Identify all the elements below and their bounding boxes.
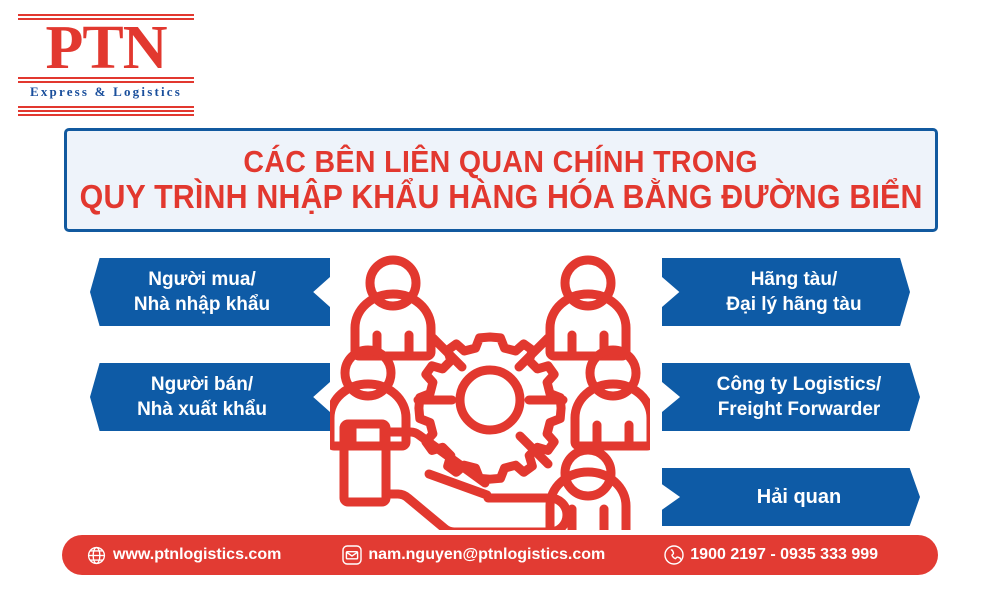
banner-buyer-label: Người mua/ Nhà nhập khẩu <box>134 267 270 317</box>
logo-tagline: Express & Logistics <box>18 84 194 100</box>
logo-rule-bottom-3 <box>18 114 194 116</box>
person-icon-middle-right <box>575 350 650 446</box>
banner-seller-label: Người bán/ Nhà xuất khẩu <box>137 372 267 422</box>
contact-phone-text: 1900 2197 - 0935 333 999 <box>690 546 878 564</box>
infographic-canvas: PTN Express & Logistics CÁC BÊN LIÊN QUA… <box>0 0 1000 600</box>
logo-wordmark: PTN <box>18 16 194 78</box>
person-icon-bottom-right <box>550 450 626 530</box>
stakeholders-illustration <box>330 240 650 530</box>
logo-rule-bottom-1 <box>18 106 194 108</box>
banner-customs[interactable]: Hải quan <box>662 468 920 526</box>
contact-email-text: nam.nguyen@ptnlogistics.com <box>368 546 605 564</box>
person-icon-top-left <box>355 260 431 356</box>
banner-carrier-label: Hãng tàu/ Đại lý hãng tàu <box>726 267 861 317</box>
logo-rule-mid-2 <box>18 81 194 83</box>
stakeholders-illustration-svg <box>330 240 650 530</box>
logo-rule-mid-1 <box>18 77 194 79</box>
banner-seller[interactable]: Người bán/ Nhà xuất khẩu <box>90 363 330 431</box>
globe-icon <box>86 545 107 566</box>
page-title-line-1: CÁC BÊN LIÊN QUAN CHÍNH TRONG <box>244 145 759 178</box>
contact-email[interactable]: nam.nguyen@ptnlogistics.com <box>341 545 605 566</box>
contact-website-text: www.ptnlogistics.com <box>113 546 281 564</box>
banner-forwarder[interactable]: Công ty Logistics/ Freight Forwarder <box>662 363 920 431</box>
banner-buyer[interactable]: Người mua/ Nhà nhập khẩu <box>90 258 330 326</box>
ptn-logo: PTN Express & Logistics <box>18 14 194 116</box>
gear-hub <box>460 370 520 430</box>
contact-footer-bar: www.ptnlogistics.com nam.nguyen@ptnlogis… <box>62 535 938 575</box>
page-title-banner: CÁC BÊN LIÊN QUAN CHÍNH TRONG QUY TRÌNH … <box>64 128 938 232</box>
person-icon-top-right <box>550 260 626 356</box>
phone-icon <box>663 545 684 566</box>
contact-website[interactable]: www.ptnlogistics.com <box>86 545 281 566</box>
logo-rule-bottom-2 <box>18 110 194 112</box>
banner-forwarder-label: Công ty Logistics/ Freight Forwarder <box>717 372 882 422</box>
contact-phone[interactable]: 1900 2197 - 0935 333 999 <box>663 545 878 566</box>
banner-carrier[interactable]: Hãng tàu/ Đại lý hãng tàu <box>662 258 910 326</box>
page-title-line-2: QUY TRÌNH NHẬP KHẨU HÀNG HÓA BẰNG ĐƯỜNG … <box>80 179 923 215</box>
banner-customs-label: Hải quan <box>757 485 841 510</box>
open-hand-icon <box>344 424 567 530</box>
envelope-icon <box>341 545 362 566</box>
